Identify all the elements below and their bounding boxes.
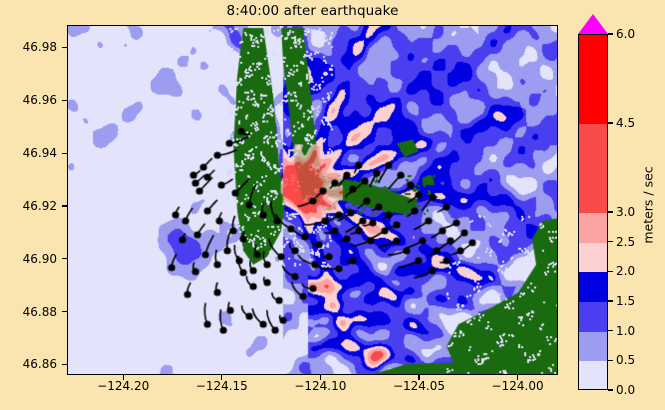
colorbar-band xyxy=(579,272,607,302)
colorbar-tick-label: 2.0 xyxy=(616,264,635,278)
colorbar-tick-label: 1.0 xyxy=(616,324,635,338)
colorbar-tick-label: 0.5 xyxy=(616,353,635,367)
x-tick-label: −124.00 xyxy=(492,379,544,393)
y-tick-mark xyxy=(62,100,67,101)
colorbar-band xyxy=(579,332,607,362)
map-axes xyxy=(67,25,558,375)
y-tick-mark xyxy=(62,47,67,48)
x-tick-label: −124.10 xyxy=(294,379,346,393)
x-tick-label: −124.15 xyxy=(196,379,248,393)
y-tick-label: 46.86 xyxy=(23,357,57,371)
x-tick-label: −124.05 xyxy=(393,379,445,393)
y-tick-label: 46.96 xyxy=(23,93,57,107)
colorbar-tick-mark xyxy=(608,360,613,361)
colorbar-band xyxy=(579,124,607,213)
colorbar-tick-mark xyxy=(608,241,613,242)
colorbar-band xyxy=(579,243,607,273)
colorbar-tick-mark xyxy=(608,330,613,331)
x-tick-label: −124.20 xyxy=(97,379,149,393)
colorbar-tick-label: 1.5 xyxy=(616,294,635,308)
figure-container: 8:40:00 after earthquake 46.8646.8846.90… xyxy=(0,0,665,410)
colorbar-band xyxy=(579,35,607,124)
colorbar-tick-label: 0.0 xyxy=(616,383,635,397)
colorbar-label: meters / sec xyxy=(641,166,656,243)
colorbar-tick-mark xyxy=(608,122,613,123)
y-tick-mark xyxy=(62,153,67,154)
colorbar-band xyxy=(579,361,607,390)
colorbar-band xyxy=(579,302,607,332)
page-title: 8:40:00 after earthquake xyxy=(67,3,558,19)
y-tick-label: 46.92 xyxy=(23,199,57,213)
y-tick-label: 46.94 xyxy=(23,146,57,160)
colorbar-band xyxy=(579,213,607,243)
colorbar-tick-label: 3.0 xyxy=(616,205,635,219)
colorbar-tick-label: 4.5 xyxy=(616,116,635,130)
colorbar-tick-mark xyxy=(608,300,613,301)
y-tick-mark xyxy=(62,364,67,365)
colorbar-tick-label: 2.5 xyxy=(616,235,635,249)
colorbar-tick-mark xyxy=(608,211,613,212)
velocity-field-map xyxy=(68,26,557,374)
y-tick-label: 46.98 xyxy=(23,40,57,54)
colorbar xyxy=(578,14,608,390)
colorbar-body xyxy=(578,34,608,390)
colorbar-tick-mark xyxy=(608,271,613,272)
y-tick-mark xyxy=(62,205,67,206)
colorbar-tick-mark xyxy=(608,389,613,390)
y-tick-label: 46.90 xyxy=(23,252,57,266)
colorbar-over-arrow-icon xyxy=(578,14,608,34)
colorbar-tick-mark xyxy=(608,33,613,34)
y-tick-label: 46.88 xyxy=(23,305,57,319)
y-tick-mark xyxy=(62,311,67,312)
y-tick-mark xyxy=(62,258,67,259)
colorbar-tick-label: 6.0 xyxy=(616,27,635,41)
